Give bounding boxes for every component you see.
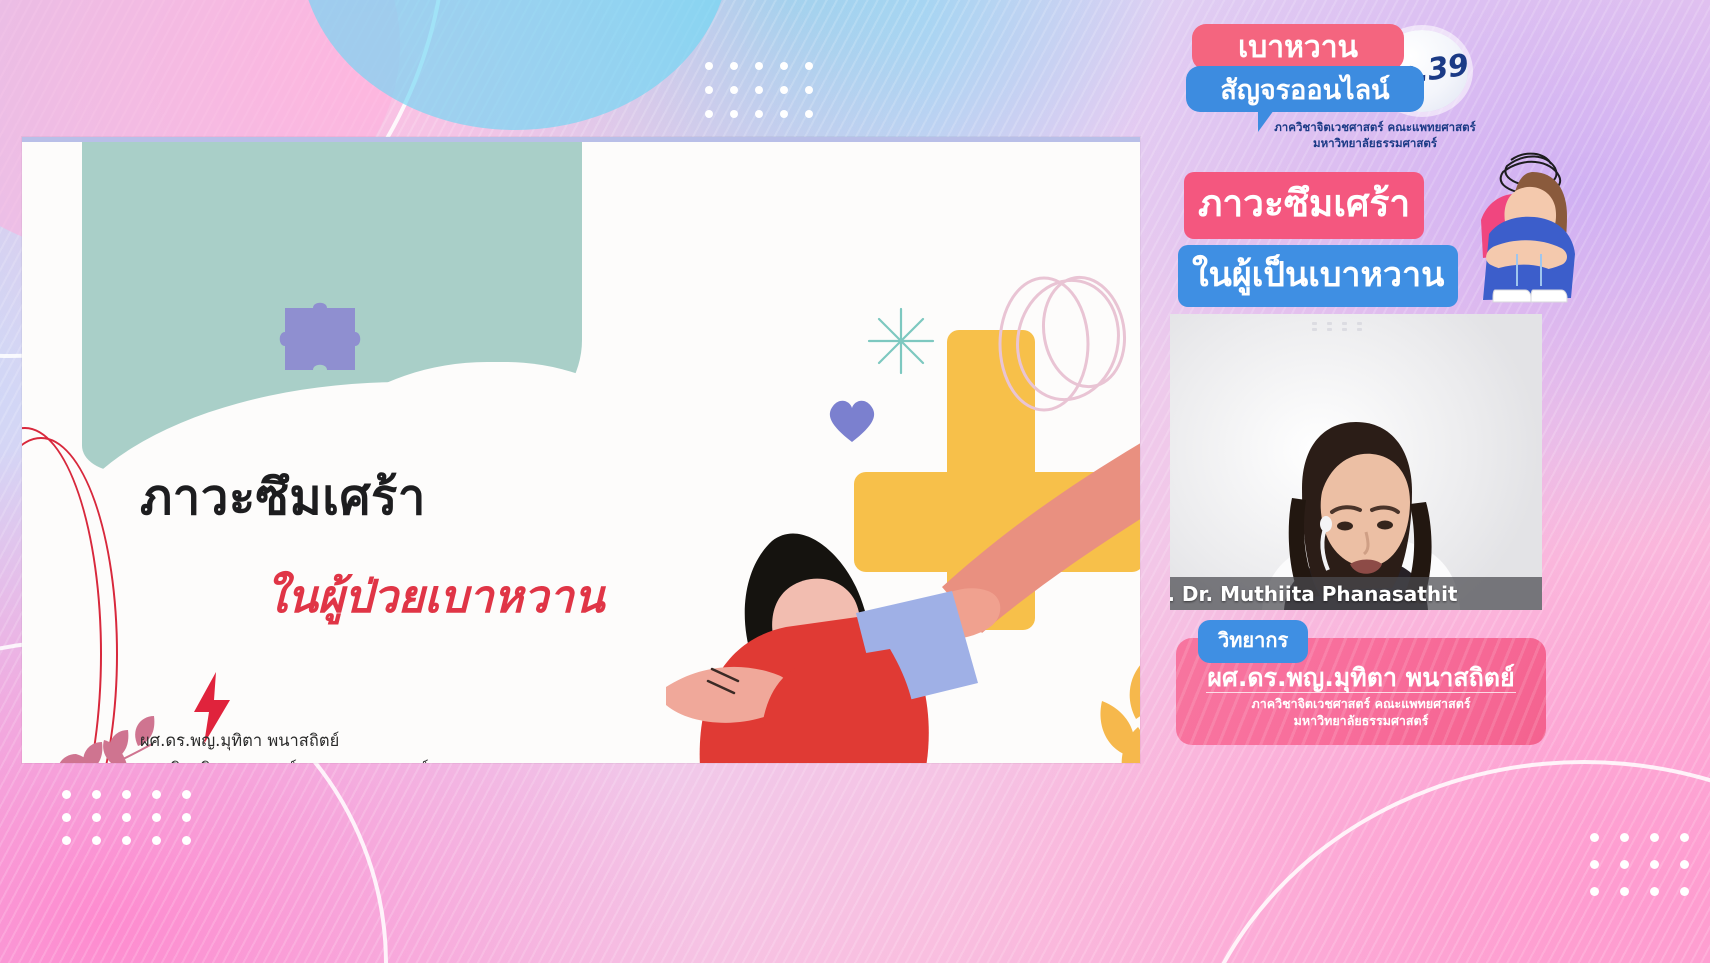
- speaker-department-line-1: ภาควิชาจิตเวชศาสตร์ คณะแพทยศาสตร์: [1176, 696, 1546, 713]
- slide-subtitle: ในผู้ป่วยเบาหวาน: [265, 569, 604, 625]
- program-logo: Ep.39 เบาหวาน สัญจรออนไลน์ ภาควิชาจิตเวช…: [1186, 24, 1516, 146]
- slide-credit-line-1: ผศ.ดร.พญ.มุทิตา พนาสถิตย์: [140, 727, 608, 755]
- topic-banner: ภาวะซึมเศร้า ในผู้เป็นเบาหวาน: [1178, 172, 1478, 292]
- video-name-overlay: of. Dr. Muthiita Phanasathit: [1170, 577, 1542, 610]
- dot-grid-bottom-left: [62, 790, 212, 859]
- video-dot-decor: [1312, 322, 1369, 331]
- topic-banner-line-1: ภาวะซึมเศร้า: [1184, 172, 1424, 239]
- loop-scribble-decor: [972, 272, 1140, 422]
- slide-title: ภาวะซึมเศร้า: [140, 467, 426, 528]
- slide-credit-line-2: ภาควิชาจิตเวชศาสตร์ คณะแพทยศาสตร์: [140, 755, 608, 763]
- participant-video-tile[interactable]: of. Dr. Muthiita Phanasathit: [1170, 314, 1542, 610]
- sad-girl-illustration: [1455, 150, 1595, 305]
- logo-line-1: เบาหวาน: [1192, 24, 1404, 70]
- video-participant-name: of. Dr. Muthiita Phanasathit: [1170, 582, 1458, 606]
- dot-grid-bottom-right: [1590, 833, 1710, 914]
- slide-credits: ผศ.ดร.พญ.มุทิตา พนาสถิตย์ ภาควิชาจิตเวชศ…: [140, 727, 608, 763]
- background-arc-bottom-right: [1180, 760, 1710, 963]
- background-blob-top-cyan: [300, 0, 730, 130]
- logo-subtitle: ภาควิชาจิตเวชศาสตร์ คณะแพทยศาสตร์ มหาวิท…: [1230, 120, 1520, 151]
- speaker-lower-third: วิทยากร ผศ.ดร.พญ.มุทิตา พนาสถิตย์ ภาควิช…: [1176, 620, 1546, 745]
- hug-illustration: [642, 437, 1140, 763]
- sparkle-icon-top: [867, 307, 935, 375]
- dot-grid-top: [705, 62, 830, 134]
- logo-subtitle-line-2: มหาวิทยาลัยธรรมศาสตร์: [1230, 136, 1520, 152]
- logo-line-2: สัญจรออนไลน์: [1186, 66, 1424, 112]
- speaker-divider: [1206, 692, 1516, 693]
- logo-subtitle-line-1: ภาควิชาจิตเวชศาสตร์ คณะแพทยศาสตร์: [1230, 120, 1520, 136]
- presentation-slide[interactable]: ภาวะซึมเศร้า ในผู้ป่วยเบาหวาน ผศ.ดร.พญ.ม…: [22, 137, 1140, 763]
- broadcast-screen: ภาวะซึมเศร้า ในผู้ป่วยเบาหวาน ผศ.ดร.พญ.ม…: [0, 0, 1710, 963]
- puzzle-piece-icon: [275, 302, 367, 384]
- speaker-department-line-2: มหาวิทยาลัยธรรมศาสตร์: [1176, 713, 1546, 730]
- speaker-department: ภาควิชาจิตเวชศาสตร์ คณะแพทยศาสตร์ มหาวิท…: [1176, 696, 1546, 730]
- topic-banner-line-2: ในผู้เป็นเบาหวาน: [1178, 245, 1458, 307]
- speaker-role-tag: วิทยากร: [1198, 620, 1308, 663]
